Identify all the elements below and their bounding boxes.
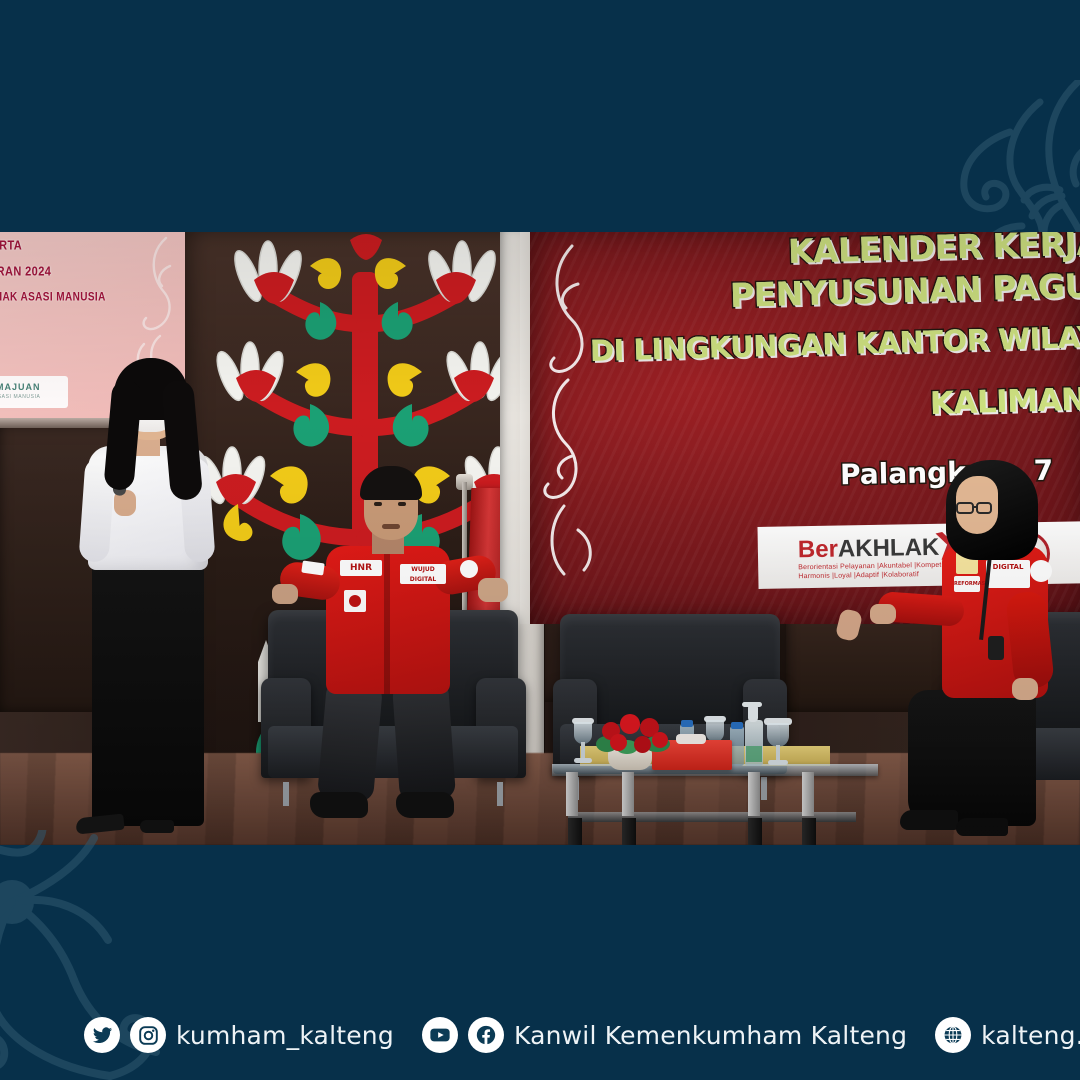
coffee-table: [552, 712, 882, 845]
globe-icon[interactable]: [935, 1017, 971, 1053]
floral-ornament-icon: [890, 80, 1080, 255]
eyeglasses-icon: [956, 502, 974, 514]
screen-line: AN 2023 SERTA: [0, 239, 22, 253]
event-photo: AN 2023 SERTA UN ANGGARAN 2024 UKUM DAN …: [0, 232, 1080, 845]
screen-line: UKUM DAN HAK ASASI MANUSIA: [0, 291, 106, 304]
banner-vine-icon: [538, 244, 608, 584]
badge-subtitle: HAK ASASI MANUSIA: [0, 394, 41, 400]
instagram-handle[interactable]: kumham_kalteng: [176, 1021, 394, 1050]
person-speaker-left: [58, 340, 238, 830]
person-seated-right: REFORMASI DIGITAL: [870, 442, 1080, 842]
twitter-icon[interactable]: [84, 1017, 120, 1053]
youtube-icon[interactable]: [422, 1017, 458, 1053]
goblet: [764, 718, 792, 768]
instagram-icon[interactable]: [130, 1017, 166, 1053]
facebook-page-name[interactable]: Kanwil Kemenkumham Kalteng: [514, 1021, 907, 1050]
social-links: kumham_kalteng Kanwil Kemenkumham Kalten…: [84, 1014, 1080, 1056]
website-url[interactable]: kalteng.kemenkumham.go.id: [981, 1021, 1080, 1050]
ber-text: Ber: [798, 536, 838, 564]
banner-line-4: KALIMAN: [929, 382, 1080, 422]
screen-line: UN ANGGARAN 2024: [0, 265, 51, 279]
badge-mizzan: REFORMASI: [954, 576, 980, 592]
badge-title: PEMAJUAN: [0, 382, 41, 392]
goblet: [572, 718, 594, 766]
footer-bar: kumham_kalteng Kanwil Kemenkumham Kalten…: [0, 845, 1080, 1080]
facebook-icon[interactable]: [468, 1017, 504, 1053]
water-bottle: [730, 726, 744, 766]
badge-reformasi-digital: DIGITAL: [986, 560, 1030, 588]
poster-root: AN 2023 SERTA UN ANGGARAN 2024 UKUM DAN …: [0, 0, 1080, 1080]
badge-hnr: HNR: [340, 560, 382, 576]
person-seated-center: HNR WUJUD DIGITAL: [272, 454, 522, 834]
rose-bouquet: [594, 712, 672, 770]
badge-wujud-digital: WUJUD DIGITAL: [400, 564, 446, 584]
